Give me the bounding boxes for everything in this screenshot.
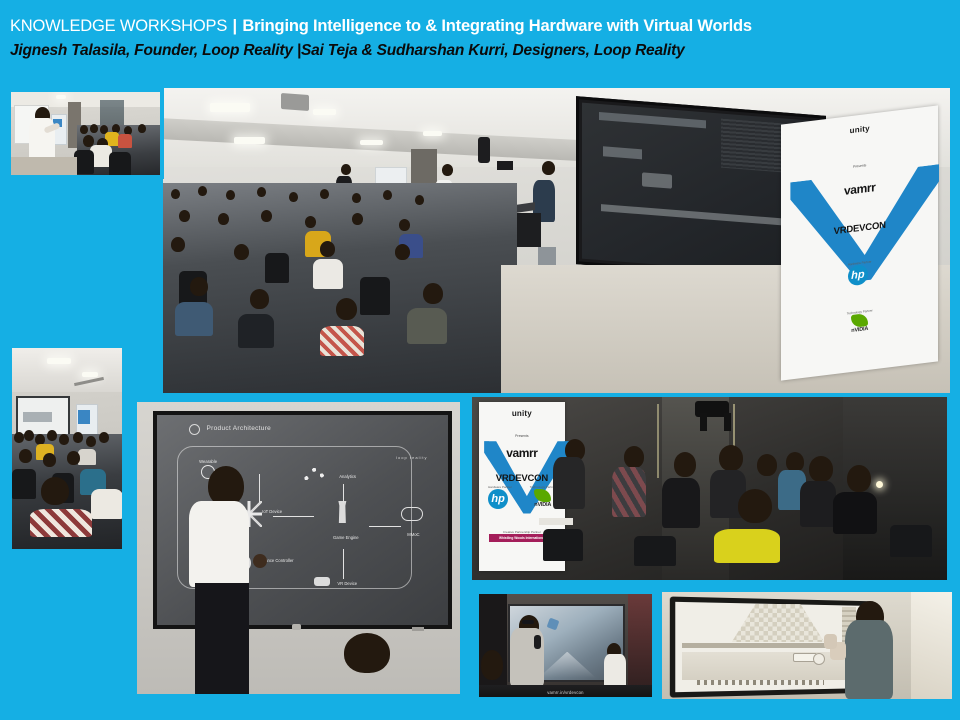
slide-title: Product Architecture bbox=[207, 425, 272, 432]
photo-audience-banner: unity Presents vamrr VRDEVCON Hardware P… bbox=[468, 393, 951, 584]
photo-url-overlay: vamrr.in/vrdevcon bbox=[479, 690, 652, 695]
slide-logo-icon bbox=[189, 424, 200, 435]
banner-vamrr-label-2: vamrr bbox=[479, 448, 565, 459]
photo-inset-top-left bbox=[7, 88, 164, 179]
slide-header: KNOWLEDGE WORKSHOPS | Bringing Intellige… bbox=[10, 16, 950, 60]
header-title-line: KNOWLEDGE WORKSHOPS | Bringing Intellige… bbox=[10, 16, 950, 36]
node-mmoc: MMoC bbox=[398, 532, 428, 537]
node-game-engine-label: Game Engine bbox=[333, 535, 359, 540]
nvidia-logo-label: nVIDIA bbox=[851, 326, 868, 334]
node-mmoc-label: MMoC bbox=[407, 532, 419, 537]
photo-architecture-talk: Product Architecture loop reality Wearab… bbox=[133, 398, 464, 698]
banner-vrdevcon-label-2: VRDEVCON bbox=[479, 473, 565, 484]
node-analytics: Analytics bbox=[329, 474, 367, 479]
banner-hp-caption-2: Hardware Partner bbox=[488, 485, 512, 489]
photo-collage: unity Presents vamrr VRDEVCON Hardware P… bbox=[0, 84, 960, 720]
banner-unity-label-2: unity bbox=[479, 409, 565, 418]
banner-vrdevcon-label: VRDEVCON bbox=[781, 213, 938, 243]
banner-presents-label-2: Presents bbox=[479, 434, 565, 438]
node-analytics-label: Analytics bbox=[339, 474, 356, 479]
node-iot-device-label: IoT Device bbox=[262, 509, 282, 514]
node-vr-device-label: VR Device bbox=[337, 581, 357, 586]
node-vr-device: VR Device bbox=[337, 581, 371, 586]
session-title: Bringing Intelligence to & Integrating H… bbox=[242, 17, 751, 35]
presenter-head bbox=[208, 466, 244, 506]
hp-logo-icon-2: hp bbox=[488, 489, 508, 509]
presentation-slide: KNOWLEDGE WORKSHOPS | Bringing Intellige… bbox=[0, 0, 960, 720]
photo-demo-screen bbox=[658, 588, 956, 703]
speaker-line: Jignesh Talasila, Founder, Loop Reality … bbox=[10, 41, 950, 60]
photo-inset-left bbox=[8, 344, 126, 553]
photo-mic-speaker: vamrr.in/vrdevcon bbox=[475, 590, 656, 701]
nvidia-logo-label-2: nVIDIA bbox=[534, 502, 551, 508]
sponsor-banner-main: unity Presents vamrr VRDEVCON Hardware P… bbox=[781, 106, 938, 382]
photo-main-hall: unity Presents vamrr VRDEVCON Hardware P… bbox=[163, 88, 950, 393]
node-game-engine: Game Engine bbox=[323, 535, 369, 540]
title-separator: | bbox=[232, 17, 238, 35]
nvidia-eye-icon-2 bbox=[534, 489, 551, 502]
hp-logo-icon: hp bbox=[848, 264, 868, 286]
series-label: KNOWLEDGE WORKSHOPS bbox=[10, 17, 227, 35]
node-wearable-label: Wearable bbox=[199, 459, 217, 464]
